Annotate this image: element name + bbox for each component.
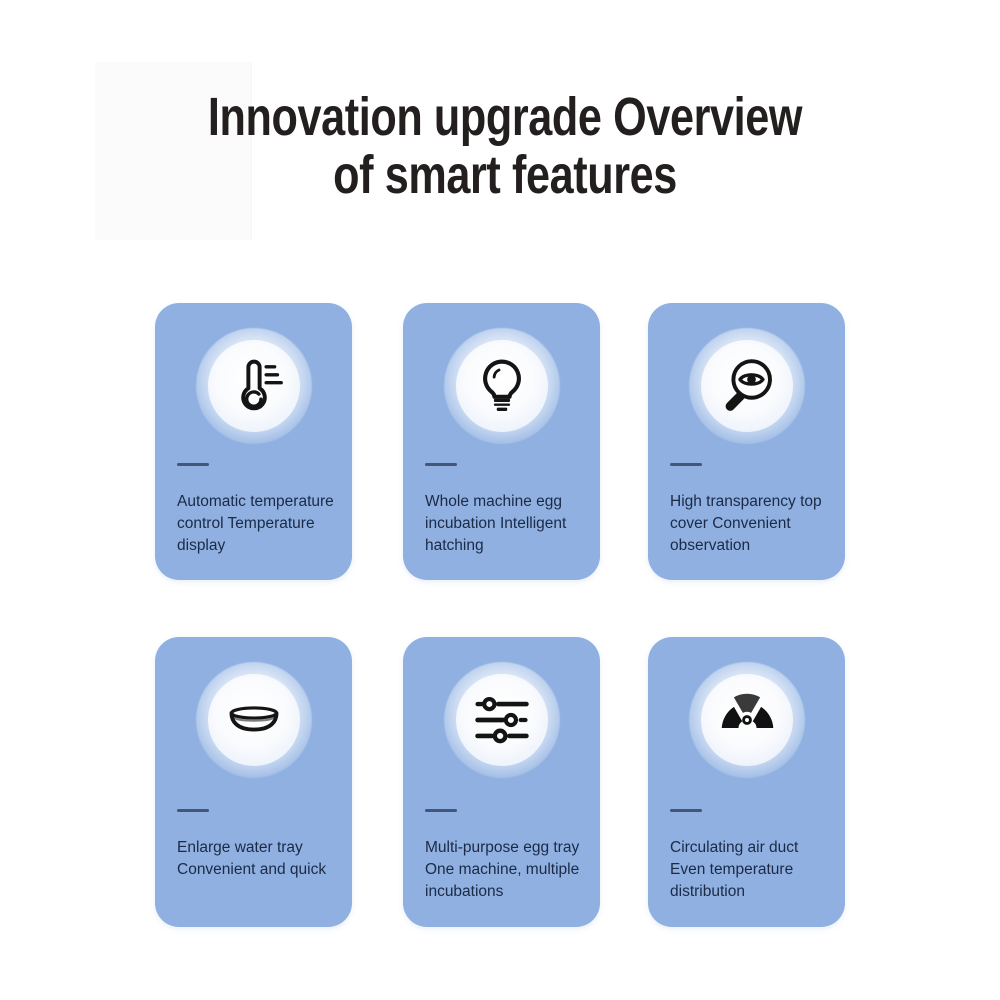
- water-tray-icon: [224, 690, 284, 750]
- magnifier-eye-icon: [717, 356, 777, 416]
- card-divider: [670, 463, 702, 466]
- feature-card-intelligent-hatching[interactable]: Whole machine egg incubation Intelligent…: [403, 303, 600, 580]
- feature-overview-page: Innovation upgrade Overview of smart fea…: [0, 0, 1000, 1000]
- feature-card-transparent-cover[interactable]: High transparency top cover Convenient o…: [648, 303, 845, 580]
- icon-container: [195, 327, 313, 445]
- sliders-icon: [472, 690, 532, 750]
- icon-container: [195, 661, 313, 779]
- feature-card-temperature-control[interactable]: Automatic temperature control Temperatur…: [155, 303, 352, 580]
- card-divider: [177, 463, 209, 466]
- icon-container: [443, 661, 561, 779]
- card-divider: [425, 463, 457, 466]
- card-divider: [177, 809, 209, 812]
- feature-card-egg-tray[interactable]: Multi-purpose egg tray One machine, mult…: [403, 637, 600, 927]
- card-label: Circulating air duct Even temperature di…: [670, 837, 831, 903]
- icon-container: [688, 327, 806, 445]
- feature-card-air-duct[interactable]: Circulating air duct Even temperature di…: [648, 637, 845, 927]
- page-title: Innovation upgrade Overview of smart fea…: [189, 88, 821, 204]
- card-label: Multi-purpose egg tray One machine, mult…: [425, 837, 586, 903]
- lightbulb-icon: [472, 356, 532, 416]
- icon-container: [443, 327, 561, 445]
- feature-card-grid: Automatic temperature control Temperatur…: [155, 303, 847, 927]
- card-label: Automatic temperature control Temperatur…: [177, 491, 338, 557]
- card-label: High transparency top cover Convenient o…: [670, 491, 831, 557]
- thermometer-icon: [224, 356, 284, 416]
- fan-blades-icon: [717, 690, 777, 750]
- card-label: Enlarge water tray Convenient and quick: [177, 837, 338, 881]
- icon-container: [688, 661, 806, 779]
- feature-card-water-tray[interactable]: Enlarge water tray Convenient and quick: [155, 637, 352, 927]
- card-divider: [670, 809, 702, 812]
- card-divider: [425, 809, 457, 812]
- card-label: Whole machine egg incubation Intelligent…: [425, 491, 586, 557]
